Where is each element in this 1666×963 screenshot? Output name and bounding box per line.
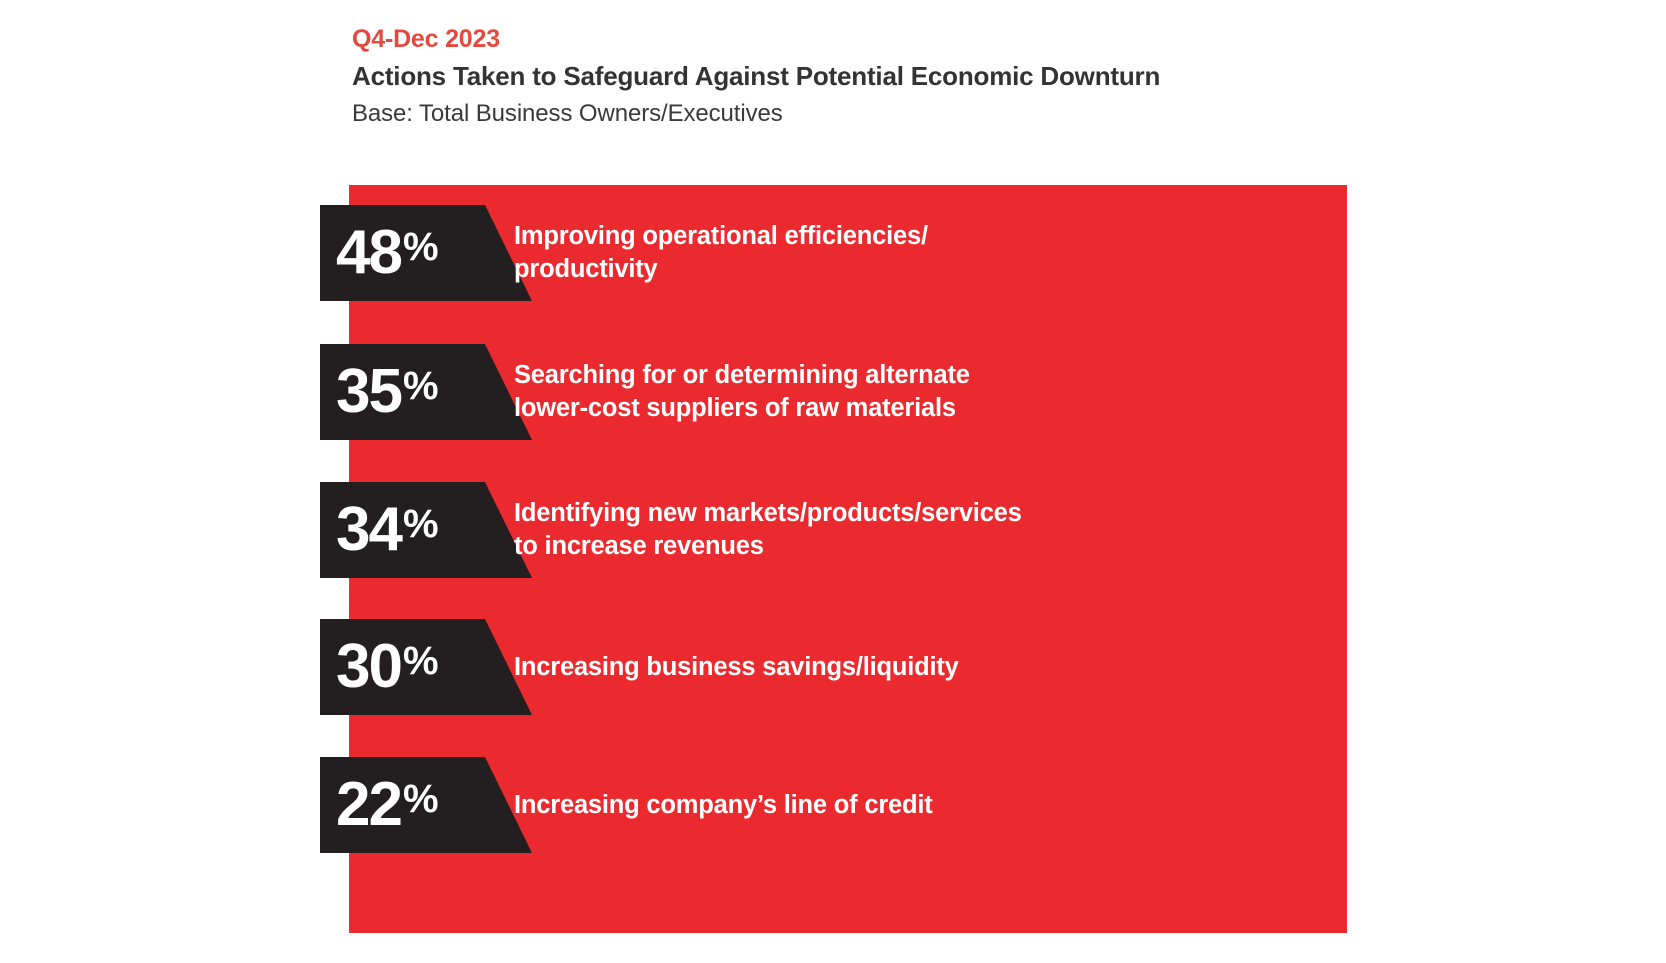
percent-badge: 30 % [320,619,532,715]
bar-row: 34 % Identifying new markets/products/se… [320,482,1420,578]
bar-label: Increasing company’s line of credit [514,757,1394,853]
bar-label: Improving operational efficiencies/ prod… [514,205,1394,301]
percent-value: 30 [336,636,401,698]
percent-value: 34 [336,499,401,561]
percent-badge: 34 % [320,482,532,578]
percent-value: 22 [336,774,401,836]
percent-badge: 35 % [320,344,532,440]
percent-symbol: % [403,641,439,681]
bar-list: 48 % Improving operational efficiencies/… [0,0,1666,963]
bar-label-line: to increase revenues [514,530,1394,563]
bar-row: 48 % Improving operational efficiencies/… [320,205,1420,301]
bar-label-line: lower-cost suppliers of raw materials [514,392,1394,425]
bar-label-line: Increasing company’s line of credit [514,789,1394,822]
percent-symbol: % [403,504,439,544]
bar-label: Searching for or determining alternate l… [514,344,1394,440]
percent-value: 35 [336,361,401,423]
bar-label: Identifying new markets/products/service… [514,482,1394,578]
bar-row: 30 % Increasing business savings/liquidi… [320,619,1420,715]
percent-badge: 22 % [320,757,532,853]
bar-label-line: Improving operational efficiencies/ [514,220,1394,253]
percent-badge: 48 % [320,205,532,301]
bar-label: Increasing business savings/liquidity [514,619,1394,715]
bar-label-line: Searching for or determining alternate [514,359,1394,392]
percent-value: 48 [336,222,401,284]
bar-label-line: Increasing business savings/liquidity [514,651,1394,684]
bar-row: 35 % Searching for or determining altern… [320,344,1420,440]
infographic-canvas: Q4-Dec 2023 Actions Taken to Safeguard A… [0,0,1666,963]
bar-label-line: Identifying new markets/products/service… [514,497,1394,530]
bar-label-line: productivity [514,253,1394,286]
bar-row: 22 % Increasing company’s line of credit [320,757,1420,853]
percent-symbol: % [403,779,439,819]
percent-symbol: % [403,227,439,267]
percent-symbol: % [403,366,439,406]
